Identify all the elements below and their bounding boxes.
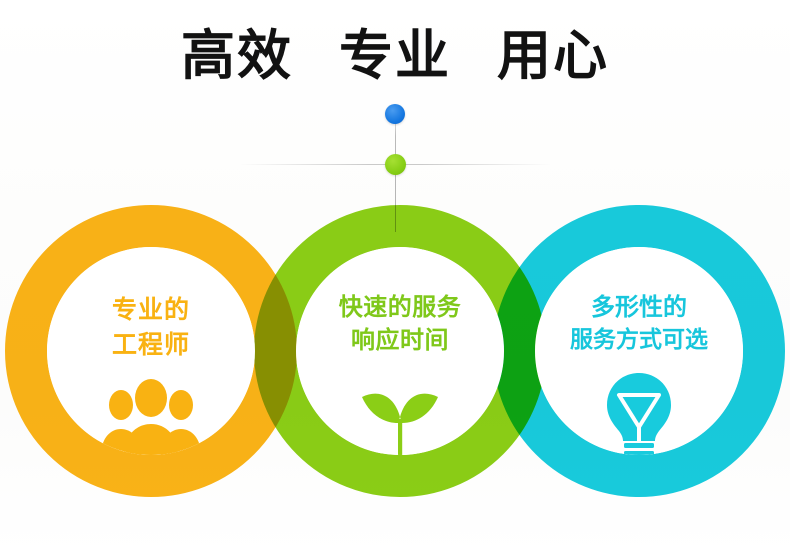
people-icon: [47, 363, 255, 455]
card-engineers-text: 专业的 工程师: [47, 293, 255, 362]
card-service-modes-text: 多形性的 服务方式可选: [535, 291, 743, 356]
infographic-canvas: 高效专业用心 专业的 工程师: [0, 0, 790, 557]
card-engineers[interactable]: 专业的 工程师: [47, 247, 255, 455]
card-service-modes-line2: 服务方式可选: [535, 324, 743, 356]
card-response-time[interactable]: 快速的服务 响应时间: [296, 247, 504, 455]
card-engineers-line1: 专业的: [47, 293, 255, 328]
sprout-icon: [296, 363, 504, 455]
card-response-time-line2: 响应时间: [296, 324, 504, 357]
lightbulb-icon: [535, 363, 743, 455]
card-service-modes-line1: 多形性的: [535, 291, 743, 324]
card-engineers-line2: 工程师: [47, 328, 255, 363]
card-service-modes[interactable]: 多形性的 服务方式可选: [535, 247, 743, 455]
card-response-time-line1: 快速的服务: [296, 291, 504, 324]
card-response-time-text: 快速的服务 响应时间: [296, 291, 504, 357]
